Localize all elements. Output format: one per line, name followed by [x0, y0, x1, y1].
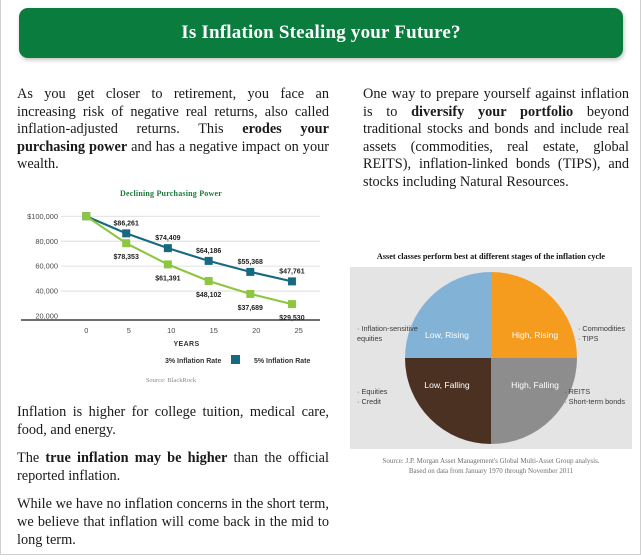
para3-text-a: The	[17, 450, 45, 466]
x-axis-tick: 0	[84, 326, 88, 335]
x-axis-tick: 5	[127, 326, 131, 335]
page-title: Is Inflation Stealing your Future?	[181, 22, 461, 44]
para3-bold: true inflation may be higher	[45, 450, 227, 466]
y-axis-tick: 80,000	[35, 237, 58, 246]
data-point-label: $37,689	[238, 305, 263, 312]
quadrant-label-bottom-right: High, Falling	[511, 380, 559, 390]
x-axis-tick: 25	[295, 326, 303, 335]
rpara1-bold: diversify your portfolio	[411, 104, 573, 120]
left-column: As you get closer to retirement, you fac…	[17, 86, 329, 185]
quadrant-chart-source: Source: J.P. Morgan Asset Management's G…	[346, 457, 636, 476]
quadrant-label-top-left: Low, Rising	[425, 330, 469, 340]
paragraph-diversify-portfolio: One way to prepare yourself against infl…	[363, 86, 629, 192]
quadrant-bottom-left[interactable]	[405, 358, 491, 444]
quadrant-assets-top-right: · Commodities · TIPS	[578, 324, 625, 344]
inflation-cycle-quadrant-chart: Asset classes perform best at different …	[346, 252, 636, 502]
chart-title: Declining Purchasing Power	[15, 189, 327, 198]
data-point-label: $74,409	[155, 235, 180, 242]
quadrant-assets-top-left: · Inflation-sensitive equities	[357, 324, 418, 344]
left-column-lower: Inflation is higher for college tuition,…	[17, 404, 329, 560]
line-chart-svg: $100,00080,00060,00040,00020,00005101520…	[15, 198, 327, 376]
data-point-marker	[246, 290, 254, 298]
quadrant-assets-bottom-left: · Equities · Credit	[357, 387, 387, 407]
quadrant-label-top-right: High, Rising	[512, 330, 559, 340]
data-point-marker	[205, 277, 213, 285]
legend-label: 3% Inflation Rate	[165, 358, 222, 365]
page-root: Is Inflation Stealing your Future? As yo…	[0, 0, 641, 555]
data-point-label: $55,368	[238, 259, 263, 266]
x-axis-label: YEARS	[173, 341, 199, 348]
x-axis-tick: 15	[210, 326, 218, 335]
data-point-label: $48,102	[196, 292, 221, 299]
x-axis-tick: 20	[252, 326, 260, 335]
quadrant-assets-bottom-right: · REITS · Short-term bonds	[564, 387, 625, 407]
data-point-marker	[246, 268, 254, 276]
right-column: One way to prepare yourself against infl…	[363, 86, 629, 203]
header-banner: Is Inflation Stealing your Future?	[19, 8, 623, 58]
declining-purchasing-power-chart: Declining Purchasing Power $100,00080,00…	[15, 186, 327, 392]
paragraph-true-inflation: The true inflation may be higher than th…	[17, 450, 329, 485]
y-axis-tick: $100,000	[27, 212, 58, 221]
data-point-label: $47,761	[279, 268, 304, 275]
data-point-label: $64,186	[196, 248, 221, 255]
legend-swatch	[231, 355, 240, 364]
quadrant-source-line-2: Based on data from January 1970 through …	[346, 467, 636, 477]
data-point-label: $86,261	[114, 220, 139, 227]
quadrant-top-right[interactable]	[491, 272, 577, 358]
data-point-marker	[288, 277, 296, 285]
data-point-marker	[164, 244, 172, 252]
y-axis-tick: 40,000	[35, 287, 58, 296]
data-point-marker	[288, 300, 296, 308]
quadrant-top-left[interactable]	[405, 272, 491, 358]
quadrant-label-bottom-left: Low, Falling	[424, 380, 470, 390]
data-point-marker	[122, 229, 130, 237]
data-point-marker	[164, 260, 172, 268]
quadrant-svg: Low, RisingHigh, RisingLow, FallingHigh,…	[350, 267, 632, 449]
paragraph-erodes-purchasing-power: As you get closer to retirement, you fac…	[17, 86, 329, 174]
data-point-label: $61,391	[155, 275, 180, 282]
legend-label: 5% Inflation Rate	[254, 358, 311, 365]
paragraph-short-term-outlook: While we have no inflation concerns in t…	[17, 496, 329, 549]
data-point-marker	[122, 239, 130, 247]
data-point-marker	[82, 212, 90, 220]
header-banner-fill: Is Inflation Stealing your Future?	[19, 8, 623, 58]
data-point-label: $78,353	[114, 254, 139, 261]
quadrant-chart-title: Asset classes perform best at different …	[346, 252, 636, 261]
quadrant-source-line-1: Source: J.P. Morgan Asset Management's G…	[346, 457, 636, 467]
paragraph-inflation-categories: Inflation is higher for college tuition,…	[17, 404, 329, 439]
data-point-label: $29,530	[279, 315, 304, 322]
quadrant-panel: Low, RisingHigh, RisingLow, FallingHigh,…	[350, 267, 632, 449]
chart-source: Source: BlackRock	[15, 377, 327, 384]
data-point-marker	[205, 257, 213, 265]
y-axis-tick: 60,000	[35, 262, 58, 271]
x-axis-tick: 10	[167, 326, 175, 335]
